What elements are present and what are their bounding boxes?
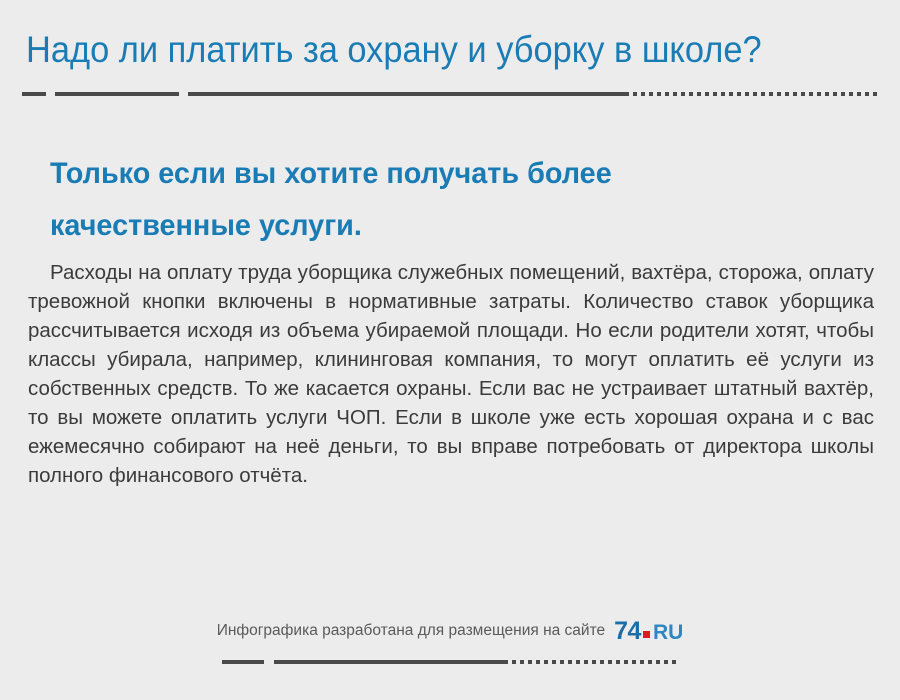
red-square-dot-icon	[643, 631, 650, 638]
infographic-slide: Надо ли платить за охрану и уборку в шко…	[0, 0, 900, 700]
divider-line-long	[188, 92, 625, 96]
divider-dots	[625, 92, 880, 96]
divider-dots	[504, 660, 678, 664]
divider-dash-short	[222, 660, 264, 664]
headline: Только если вы хотите получать более кач…	[50, 148, 722, 252]
logo-number: 74	[614, 617, 641, 646]
body-paragraph: Расходы на оплату труда уборщика служебн…	[28, 258, 874, 490]
divider-dash-medium	[55, 92, 179, 96]
divider-top	[22, 92, 880, 96]
divider-bottom	[222, 660, 678, 664]
footer: Инфографика разработана для размещения н…	[0, 614, 900, 648]
footer-credit-text: Инфографика разработана для размещения н…	[217, 622, 605, 640]
divider-dash-short	[22, 92, 46, 96]
site-logo[interactable]: 74 RU	[614, 617, 683, 646]
page-title: Надо ли платить за охрану и уборку в шко…	[26, 28, 762, 72]
divider-line-long	[274, 660, 504, 664]
logo-domain: RU	[653, 621, 683, 645]
